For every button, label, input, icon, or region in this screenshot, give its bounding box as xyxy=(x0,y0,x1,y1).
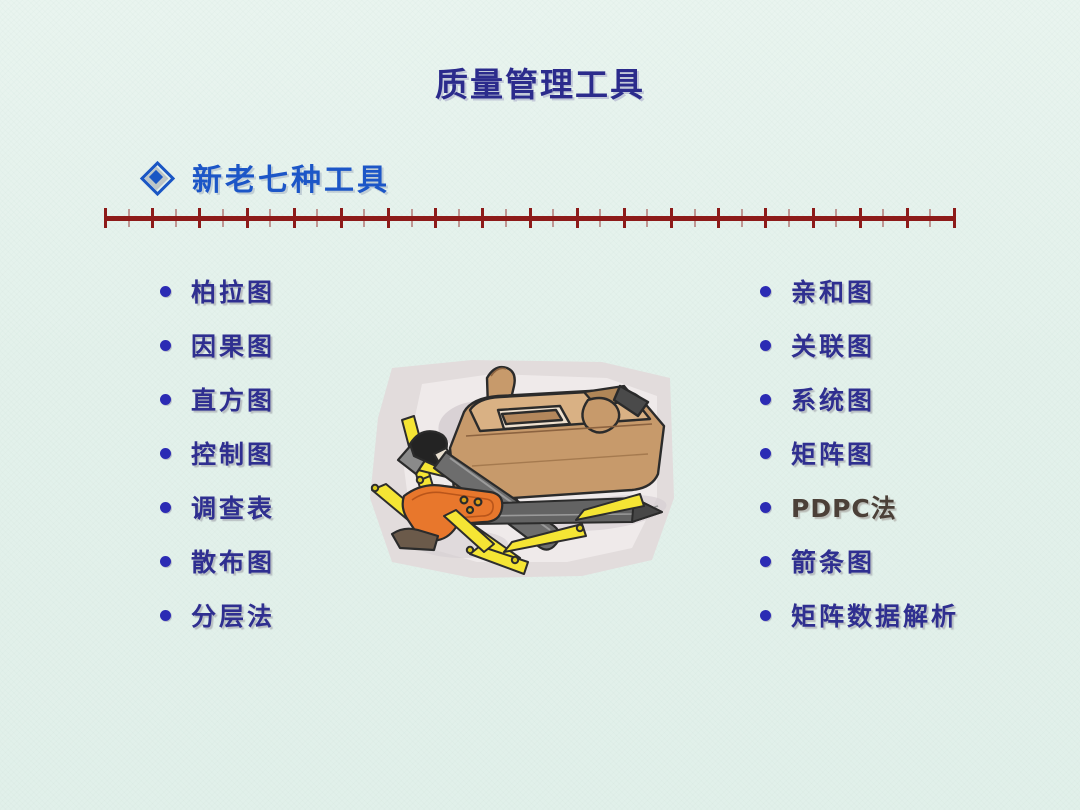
list-item[interactable]: 调查表 xyxy=(160,480,275,534)
round-bullet-icon xyxy=(760,556,771,567)
ruler-tick xyxy=(198,208,201,228)
ruler-tick xyxy=(741,209,743,227)
ruler-tick xyxy=(835,209,837,227)
list-item-label: 箭条图 xyxy=(791,543,875,579)
ruler-tick xyxy=(812,208,815,228)
ruler-tick xyxy=(788,209,790,227)
list-item-label: 关联图 xyxy=(791,327,875,363)
ruler-tick xyxy=(340,208,343,228)
ruler-tick xyxy=(953,208,956,228)
list-item-label: 矩阵数据解析 xyxy=(791,597,959,633)
slide-canvas: 质量管理工具 新老七种工具 柏拉图因果图直方图控制图调查表散布图分层法 亲和图关… xyxy=(0,0,1080,810)
list-item-label: 柏拉图 xyxy=(191,273,275,309)
list-item[interactable]: 关联图 xyxy=(760,318,959,372)
list-item[interactable]: 箭条图 xyxy=(760,534,959,588)
list-item[interactable]: 亲和图 xyxy=(760,264,959,318)
round-bullet-icon xyxy=(160,286,171,297)
old-seven-tools-list: 柏拉图因果图直方图控制图调查表散布图分层法 xyxy=(160,264,275,642)
ruler-tick xyxy=(929,209,931,227)
list-item-label: 系统图 xyxy=(791,381,875,417)
round-bullet-icon xyxy=(160,394,171,405)
ruler-tick xyxy=(859,208,862,228)
round-bullet-icon xyxy=(760,502,771,513)
ruler-tick xyxy=(411,209,413,227)
list-item[interactable]: PDPC法 xyxy=(760,480,959,534)
ruler-tick xyxy=(458,209,460,227)
list-item-label: 直方图 xyxy=(191,381,275,417)
ruler-tick xyxy=(623,208,626,228)
list-item[interactable]: 系统图 xyxy=(760,372,959,426)
ruler-tick xyxy=(764,208,767,228)
ruler-tick xyxy=(175,209,177,227)
ruler-tick xyxy=(906,208,909,228)
list-item-label: 控制图 xyxy=(191,435,275,471)
round-bullet-icon xyxy=(760,286,771,297)
ruler-tick xyxy=(316,209,318,227)
woodworking-tools-clipart xyxy=(352,348,682,598)
round-bullet-icon xyxy=(760,610,771,621)
page-title: 质量管理工具 xyxy=(0,58,1080,106)
ruler-tick xyxy=(434,208,437,228)
ruler-tick xyxy=(670,208,673,228)
new-seven-tools-list: 亲和图关联图系统图矩阵图PDPC法箭条图矩阵数据解析 xyxy=(760,264,959,642)
diamond-bullet-icon xyxy=(143,164,170,191)
ruler-tick xyxy=(104,208,107,228)
round-bullet-icon xyxy=(760,448,771,459)
list-item[interactable]: 直方图 xyxy=(160,372,275,426)
ruler-tick xyxy=(151,208,154,228)
ruler-tick xyxy=(269,209,271,227)
ruler-tick xyxy=(387,208,390,228)
list-item[interactable]: 柏拉图 xyxy=(160,264,275,318)
ruler-tick xyxy=(529,208,532,228)
ruler-tick xyxy=(363,209,365,227)
list-item-label: 调查表 xyxy=(191,489,275,525)
ruler-tick xyxy=(505,209,507,227)
round-bullet-icon xyxy=(160,610,171,621)
ruler-tick xyxy=(128,209,130,227)
round-bullet-icon xyxy=(160,448,171,459)
round-bullet-icon xyxy=(760,394,771,405)
list-item-label: 因果图 xyxy=(191,327,275,363)
ruler-tick xyxy=(576,208,579,228)
ruler-tick xyxy=(222,209,224,227)
ruler-tick xyxy=(293,208,296,228)
list-item-label: 分层法 xyxy=(191,597,275,633)
list-item-label: 亲和图 xyxy=(791,273,875,309)
subtitle-text: 新老七种工具 xyxy=(192,155,390,199)
list-item[interactable]: 矩阵数据解析 xyxy=(760,588,959,642)
list-item[interactable]: 因果图 xyxy=(160,318,275,372)
list-item[interactable]: 分层法 xyxy=(160,588,275,642)
ruler-tick xyxy=(481,208,484,228)
ruler-tick xyxy=(646,209,648,227)
ruler-tick xyxy=(717,208,720,228)
list-item[interactable]: 矩阵图 xyxy=(760,426,959,480)
round-bullet-icon xyxy=(160,556,171,567)
ruler-tick xyxy=(246,208,249,228)
round-bullet-icon xyxy=(160,340,171,351)
list-item-label: 矩阵图 xyxy=(791,435,875,471)
subtitle-row: 新老七种工具 xyxy=(143,155,390,199)
list-item[interactable]: 控制图 xyxy=(160,426,275,480)
ruler-tick xyxy=(552,209,554,227)
round-bullet-icon xyxy=(160,502,171,513)
ruler-divider xyxy=(104,208,956,228)
ruler-tick xyxy=(694,209,696,227)
list-item[interactable]: 散布图 xyxy=(160,534,275,588)
ruler-tick xyxy=(599,209,601,227)
list-item-label: PDPC法 xyxy=(791,489,897,525)
list-item-label: 散布图 xyxy=(191,543,275,579)
round-bullet-icon xyxy=(760,340,771,351)
ruler-tick xyxy=(882,209,884,227)
